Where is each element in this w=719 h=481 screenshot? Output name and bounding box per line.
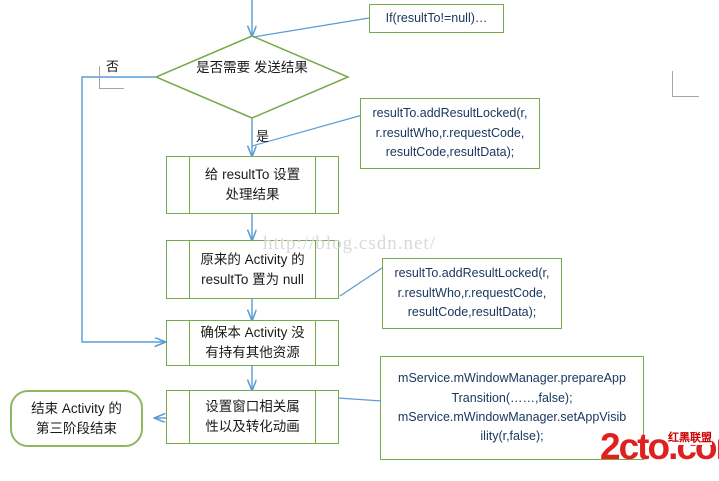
branch-label-yes: 是 <box>256 126 269 145</box>
callout-if-line-1: If(resultTo!=null)… <box>386 9 488 28</box>
watermark-url: http://blog.csdn.net/ <box>263 233 436 255</box>
decision-label: 是否需要 发送结果 <box>192 58 312 78</box>
callout-if-resultto[interactable]: If(resultTo!=null)… <box>369 4 504 33</box>
flowchart-canvas: 是否需要 发送结果 否 是 给 resultTo 设置 处理结果 原来的 Act… <box>0 0 719 481</box>
decision-diamond <box>156 36 348 118</box>
connector-no <box>82 77 165 342</box>
leader-if <box>253 18 369 37</box>
callout-add-result-1[interactable]: resultTo.addResultLocked(r, r.resultWho,… <box>360 98 540 169</box>
watermark-logo-cn: 红黑联盟 <box>668 429 712 445</box>
crop-corner-marker <box>672 71 699 97</box>
node-end-terminator[interactable]: 结束 Activity 的 第三阶段结束 <box>10 390 143 447</box>
node-clear-resultto-line-2: resultTo 置为 null <box>201 270 304 290</box>
callout-window-manager-line-2: Transition(……,false); <box>451 389 572 408</box>
node-set-result-line-2: 处理结果 <box>226 185 280 205</box>
callout-add-result-2-line-2: r.resultWho,r.requestCode, <box>398 284 547 303</box>
node-window-attrs[interactable]: 设置窗口相关属 性以及转化动画 <box>166 390 339 444</box>
callout-add-result-1-line-3: resultCode,resultData); <box>386 143 515 162</box>
leader-add-result-2 <box>340 268 382 296</box>
node-set-result-line-1: 给 resultTo 设置 <box>205 165 300 185</box>
node-release-resources[interactable]: 确保本 Activity 没 有持有其他资源 <box>166 320 339 366</box>
node-release-resources-line-2: 有持有其他资源 <box>205 343 300 363</box>
node-release-resources-line-1: 确保本 Activity 没 <box>200 323 304 343</box>
node-set-result[interactable]: 给 resultTo 设置 处理结果 <box>166 156 339 214</box>
callout-add-result-1-line-2: r.resultWho,r.requestCode, <box>376 124 525 143</box>
decision-label-line-2: 发送结果 <box>254 60 308 75</box>
callout-add-result-2-line-1: resultTo.addResultLocked(r, <box>395 264 550 283</box>
callout-add-result-2[interactable]: resultTo.addResultLocked(r, r.resultWho,… <box>382 258 562 329</box>
node-window-attrs-line-2: 性以及转化动画 <box>205 417 300 437</box>
branch-no-marker <box>99 66 124 89</box>
node-window-attrs-line-1: 设置窗口相关属 <box>205 397 300 417</box>
callout-window-manager-line-4: ility(r,false); <box>480 427 543 446</box>
leader-add-result-1 <box>252 114 366 146</box>
decision-label-line-1: 是否需要 <box>196 60 250 75</box>
callout-add-result-2-line-3: resultCode,resultData); <box>408 303 537 322</box>
callout-window-manager-line-3: mService.mWindowManager.setAppVisib <box>398 408 626 427</box>
callout-window-manager-line-1: mService.mWindowManager.prepareApp <box>398 369 626 388</box>
watermark-logo: 2cto.com 红黑联盟 <box>600 428 712 472</box>
node-end-line-2: 第三阶段结束 <box>36 419 117 439</box>
callout-add-result-1-line-1: resultTo.addResultLocked(r, <box>373 104 528 123</box>
node-end-line-1: 结束 Activity 的 <box>31 399 122 419</box>
